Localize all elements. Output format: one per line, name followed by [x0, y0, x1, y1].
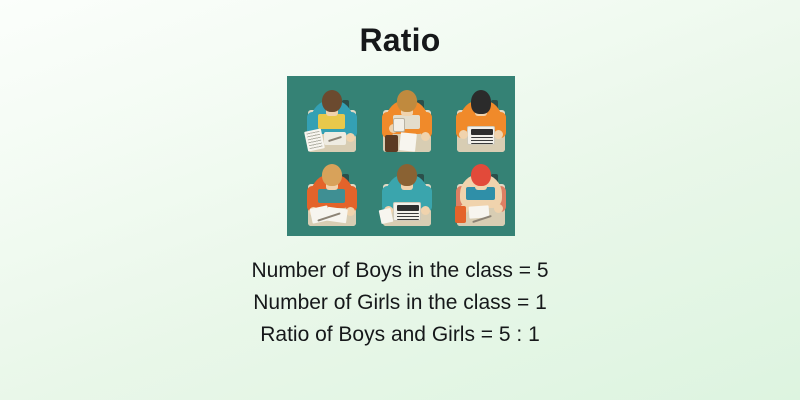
laptop [393, 202, 421, 221]
caption-boys: Number of Boys in the class = 5 [0, 255, 800, 287]
paper-lines [306, 131, 322, 149]
laptop-screen [397, 205, 419, 211]
page-title: Ratio [0, 22, 800, 59]
student-figure [376, 88, 438, 156]
hand-right [346, 133, 355, 142]
slide-canvas: Ratio [0, 0, 800, 400]
student-figure [301, 162, 363, 230]
hand-right [421, 132, 430, 141]
illustration-panel [287, 76, 515, 236]
paper-sheet [399, 132, 417, 152]
student-figure [450, 162, 512, 230]
student-figure [376, 162, 438, 230]
head [322, 164, 342, 186]
book [318, 189, 345, 203]
laptop-keyboard [471, 137, 493, 144]
laptop-screen [471, 129, 493, 135]
book [318, 114, 345, 129]
laptop [467, 126, 495, 145]
laptop-keyboard [397, 213, 419, 220]
phone [393, 118, 405, 132]
head [322, 90, 342, 112]
hand-right [421, 206, 430, 215]
hand-left [459, 130, 468, 139]
paper-sheet [379, 208, 394, 224]
caption-girls: Number of Girls in the class = 1 [0, 287, 800, 319]
closed-book [455, 206, 466, 223]
caption-ratio: Ratio of Boys and Girls = 5 : 1 [0, 319, 800, 351]
student-figure [301, 88, 363, 156]
head [397, 164, 417, 186]
student-figure [450, 88, 512, 156]
caption-block: Number of Boys in the class = 5 Number o… [0, 255, 800, 351]
head [471, 164, 491, 186]
hand-right [494, 130, 503, 139]
head [397, 90, 417, 112]
hand-right [494, 204, 503, 213]
head [471, 90, 491, 114]
closed-book [385, 135, 398, 152]
